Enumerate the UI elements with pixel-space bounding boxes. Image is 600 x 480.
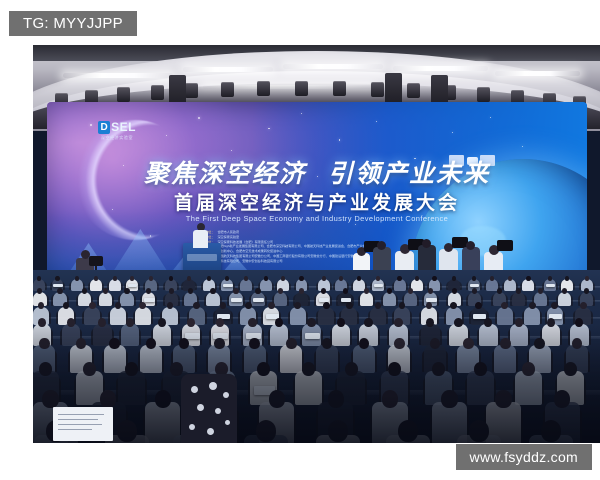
audience-member	[121, 324, 140, 346]
audience-member	[534, 292, 548, 306]
audience-member-head	[264, 276, 268, 281]
dsel-logo-subtitle: 深空经济实验室	[91, 135, 143, 141]
audience-member-head	[397, 276, 401, 281]
document-on-desk	[53, 407, 113, 441]
audience-member-head	[398, 420, 418, 442]
audience-member	[76, 371, 103, 405]
laptop	[305, 333, 320, 339]
audience-member	[332, 324, 351, 346]
audience-member	[404, 292, 418, 306]
audience-member-head	[169, 288, 174, 294]
audience-member-head	[38, 318, 46, 327]
audience-member-head	[187, 318, 195, 327]
audience-member-head	[328, 420, 348, 442]
press-photographer-head	[377, 241, 386, 250]
audience-member-head	[394, 318, 402, 327]
ceiling-light-strip	[63, 73, 173, 78]
audience-member-head	[187, 276, 191, 281]
audience-member	[295, 371, 322, 405]
audience-member-head	[146, 288, 151, 294]
podium-plate	[187, 254, 217, 261]
audience-member-head	[345, 362, 358, 376]
audience-member-head	[430, 338, 440, 349]
audience-member-head	[278, 288, 283, 294]
audience-member	[467, 371, 494, 405]
audience-member	[411, 279, 423, 291]
audience-member-head	[299, 288, 304, 294]
screen-title-main-left: 聚焦深空经济	[144, 154, 306, 190]
laptop	[470, 284, 479, 287]
video-camera-icon	[497, 240, 513, 251]
video-camera-icon	[89, 256, 103, 266]
dsel-logo-mark: D	[98, 121, 110, 134]
audience-member-head	[508, 276, 512, 281]
audience-member-head	[307, 318, 315, 327]
audience-member-head	[346, 302, 353, 309]
audience-member-head	[432, 276, 436, 281]
audience-member-head	[275, 318, 283, 327]
audience-member	[99, 292, 113, 306]
audience-member	[497, 307, 513, 325]
audience-member-head	[125, 362, 138, 376]
audience-member-head	[42, 390, 58, 408]
audience-member-head	[193, 302, 200, 309]
audience-member	[494, 345, 516, 372]
audience-member	[118, 371, 145, 405]
audience-member-head	[541, 420, 561, 442]
laptop	[253, 298, 264, 302]
audience-member-head	[472, 276, 476, 281]
audience-member-head	[337, 318, 345, 327]
audience-member-head	[100, 390, 116, 408]
audience-member-head	[269, 390, 285, 408]
audience-member	[383, 292, 397, 306]
audience-member	[479, 324, 498, 346]
screen-title-sub: 首届深空经济与产业发展大会	[47, 188, 587, 215]
audience-member	[140, 345, 162, 372]
laptop	[144, 298, 155, 302]
audience-member-head	[441, 390, 457, 408]
audience-member-head	[562, 288, 567, 294]
audience-member-head	[538, 288, 543, 294]
audience-member-head	[408, 288, 413, 294]
audience-member-head	[149, 276, 153, 281]
audience-member-head	[547, 318, 555, 327]
audience-member-head	[415, 276, 419, 281]
laptop	[128, 284, 137, 287]
audience-member	[120, 292, 134, 306]
audience-member-head	[394, 338, 404, 349]
audience-member-head	[76, 338, 86, 349]
audience	[33, 270, 600, 443]
laptop	[374, 284, 383, 287]
audience-member-head	[57, 288, 62, 294]
audience-member-head	[256, 420, 276, 442]
audience-member-head	[83, 362, 96, 376]
audience-member-head	[94, 276, 98, 281]
audience-member-head	[387, 288, 392, 294]
watermark-top-left: TG: MYYJJPP	[9, 11, 137, 36]
audience-member-head	[130, 276, 134, 281]
screen-title-english: The First Deep Space Economy and Industr…	[47, 214, 587, 223]
screen-title-main-right: 引领产业未来	[328, 154, 490, 190]
audience-member-head	[323, 302, 330, 309]
audience-member	[104, 345, 126, 372]
audience-member-head	[463, 338, 473, 349]
audience-member-head	[37, 276, 41, 281]
audience-member-head	[343, 288, 348, 294]
audience-member-head	[328, 390, 344, 408]
audience-member	[360, 292, 374, 306]
audience-member-head	[214, 338, 224, 349]
press-photographer-head	[466, 241, 475, 250]
dsel-logo-text: SEL	[111, 120, 136, 134]
audience-member-head	[170, 362, 183, 376]
audience-member	[316, 345, 338, 372]
audience-member-head	[113, 276, 117, 281]
screen-title-main: 聚焦深空经济引领产业未来	[47, 154, 587, 190]
audience-member-head	[89, 302, 96, 309]
audience-member	[110, 307, 126, 325]
audience-member	[524, 307, 540, 325]
laptop	[53, 284, 62, 287]
audience-member-head	[155, 390, 171, 408]
audience-member	[206, 292, 220, 306]
speaker-body	[193, 230, 208, 248]
audience-member-head	[382, 390, 398, 408]
laptop	[223, 284, 232, 287]
audience-member-head	[554, 390, 570, 408]
audience-member-head	[322, 276, 326, 281]
audience-member-head	[376, 276, 380, 281]
ceiling-light-strip	[393, 66, 488, 71]
audience-member-head	[286, 338, 296, 349]
audience-member-head	[124, 288, 129, 294]
audience-member-head	[281, 276, 285, 281]
audience-member-head	[497, 288, 502, 294]
audience-member-head	[82, 288, 87, 294]
audience-member-head	[500, 338, 510, 349]
polka-dot-attendee	[181, 374, 237, 443]
audience-member	[135, 307, 151, 325]
audience-member-head	[495, 390, 511, 408]
screenshot-root: DSEL 深空经济实验室 聚焦深空经济引领产业未来 首届深空经济与产业发展大会 …	[0, 0, 600, 480]
audience-member-head	[428, 288, 433, 294]
audience-member-head	[257, 362, 270, 376]
audience-member-head	[158, 318, 166, 327]
audience-member-head	[529, 302, 536, 309]
audience-member-head	[548, 276, 552, 281]
audience-member-head	[255, 288, 260, 294]
audience-member-head	[572, 338, 582, 349]
audience-member-head	[474, 362, 487, 376]
audience-member-head	[39, 338, 49, 349]
audience-member-head	[109, 338, 119, 349]
ceiling-light-strip	[283, 64, 383, 69]
audience-member-head	[388, 362, 401, 376]
audience-member-head	[249, 338, 259, 349]
audience-member-head	[67, 318, 75, 327]
press-photographer-head	[422, 239, 431, 248]
audience-member	[318, 307, 334, 325]
audience-member-head	[169, 276, 173, 281]
audience-member	[512, 292, 526, 306]
audience-member	[274, 292, 288, 306]
audience-member-head	[580, 302, 587, 309]
audience-member	[109, 279, 121, 291]
audience-member-head	[432, 362, 445, 376]
audience-member	[280, 345, 302, 372]
audience-member-head	[364, 288, 369, 294]
audience-member	[260, 279, 272, 291]
audience-member-head	[75, 276, 79, 281]
audience-member-head	[516, 288, 521, 294]
speaker-at-podium	[193, 223, 208, 247]
audience-member-head	[522, 362, 535, 376]
audience-member-head	[564, 362, 577, 376]
audience-member-head	[245, 302, 252, 309]
laptop	[231, 298, 242, 302]
audience-member	[504, 279, 516, 291]
watermark-bottom-right: www.fsyddz.com	[456, 444, 592, 470]
ceiling-light-strip	[495, 71, 580, 76]
audience-member	[90, 279, 102, 291]
laptop	[473, 314, 486, 319]
audience-member-head	[244, 276, 248, 281]
audience-member	[394, 279, 406, 291]
audience-member-head	[585, 276, 589, 281]
audience-member	[522, 279, 534, 291]
audience-member	[510, 324, 529, 346]
audience-member-head	[207, 276, 211, 281]
audience-member-head	[321, 288, 326, 294]
laptop	[546, 284, 555, 287]
conference-photo: DSEL 深空经济实验室 聚焦深空经济引领产业未来 首届深空经济与产业发展大会 …	[33, 45, 600, 443]
audience-member-head	[117, 420, 137, 442]
audience-member-head	[302, 362, 315, 376]
audience-member	[558, 292, 572, 306]
audience-member-head	[454, 318, 462, 327]
audience-member-head	[216, 318, 224, 327]
audience-member	[515, 371, 542, 405]
audience-member-head	[268, 302, 275, 309]
audience-member	[290, 307, 306, 325]
audience-member-head	[584, 288, 589, 294]
audience-member-head	[565, 276, 569, 281]
audience-member-head	[364, 318, 372, 327]
audience-member-head	[248, 318, 256, 327]
ceiling-light-strip	[183, 67, 273, 72]
audience-member	[240, 279, 252, 291]
audience-member-head	[55, 276, 59, 281]
audience-member-head	[299, 276, 303, 281]
audience-member-head	[526, 276, 530, 281]
audience-member-head	[469, 420, 489, 442]
audience-member-head	[126, 318, 134, 327]
audience-member-head	[534, 338, 544, 349]
audience-member-head	[515, 318, 523, 327]
audience-member-head	[233, 288, 238, 294]
audience-member-head	[210, 288, 215, 294]
audience-member-head	[339, 276, 343, 281]
audience-member-head	[452, 276, 456, 281]
